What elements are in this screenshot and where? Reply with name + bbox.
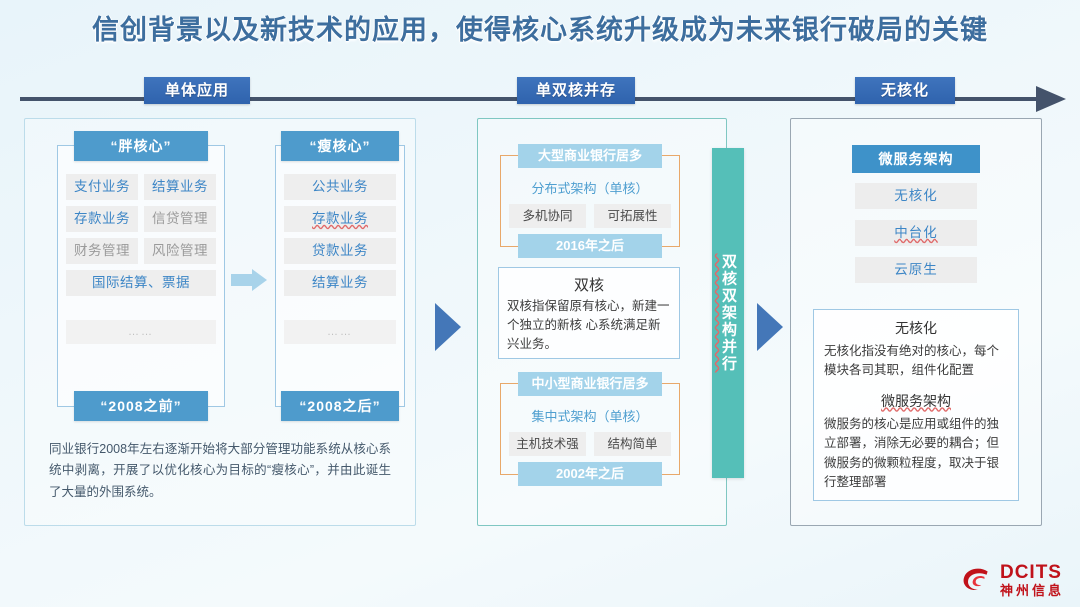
fat-core-cell: 结算业务 [144, 174, 216, 200]
panel-monolithic: “胖核心” 支付业务 结算业务 存款业务 信贷管理 财务管理 风险管理 国际结算… [24, 118, 416, 526]
fat-core-caption-top: “胖核心” [74, 131, 208, 161]
fat-core-row: …… [66, 320, 216, 344]
coreless-heading-2: 微服务架构 [824, 391, 1008, 411]
dcits-swoosh-icon [960, 563, 994, 597]
dual-core-body: 双核指保留原有核心，新建一个独立的新核 心系统满足新兴业务。 [507, 297, 671, 353]
fat-core-cell: 信贷管理 [144, 206, 216, 232]
fat-core-items: 支付业务 结算业务 存款业务 信贷管理 财务管理 风险管理 国际结算、票据 [66, 174, 216, 350]
timeline-stage-3[interactable]: 无核化 [855, 77, 955, 104]
thin-core-cell: 贷款业务 [284, 238, 396, 264]
small-bank-year: 2002年之后 [518, 462, 662, 486]
panel-monolithic-note: 同业银行2008年左右逐渐开始将大部分管理功能系统从核心系统中剥离，开展了以优化… [41, 433, 399, 510]
spacer [66, 302, 216, 314]
coreless-body-1: 无核化指没有绝对的核心，每个模块各司其职，组件化配置 [824, 342, 1008, 381]
thin-core-cell: 结算业务 [284, 270, 396, 296]
panel-dual-core: 大型商业银行居多 分布式架构（单核） 多机协同 可拓展性 2016年之后 双核 … [477, 118, 727, 526]
fat-core-cell: 财务管理 [66, 238, 138, 264]
tag: 结构简单 [594, 432, 671, 456]
coreless-feature-list: 无核化 中台化 云原生 [855, 183, 977, 294]
thin-core-column: “瘦核心” 公共业务 存款业务 贷款业务 结算业务 …… “2008之后” [275, 145, 405, 407]
fat-core-row: 支付业务 结算业务 [66, 174, 216, 200]
fat-core-cell: 支付业务 [66, 174, 138, 200]
thin-core-cell: 公共业务 [284, 174, 396, 200]
timeline-stage-1[interactable]: 单体应用 [144, 77, 250, 104]
dual-architecture-bar-label: 双核双架构并行 [712, 254, 744, 373]
thin-core-ellipsis: …… [284, 320, 396, 344]
spacer [284, 302, 396, 314]
brand-logo-text: DCITS 神州信息 [1000, 563, 1064, 597]
dual-core-heading: 双核 [507, 274, 671, 295]
coreless-feature: 云原生 [855, 257, 977, 283]
page-title: 信创背景以及新技术的应用，使得核心系统升级成为未来银行破局的关键 [0, 8, 1080, 47]
thin-core-caption-bottom: “2008之后” [281, 391, 399, 421]
fat-core-row: 财务管理 风险管理 [66, 238, 216, 264]
fat-core-ellipsis: …… [66, 320, 216, 344]
fat-core-cell: 风险管理 [144, 238, 216, 264]
thin-core-items: 公共业务 存款业务 贷款业务 结算业务 …… [284, 174, 396, 350]
coreless-body-2: 微服务的核心是应用或组件的独立部署，消除无必要的耦合；但微服务的微颗粒程度，取决… [824, 415, 1008, 493]
tag: 可拓展性 [594, 204, 671, 228]
coreless-feature: 无核化 [855, 183, 977, 209]
stage-arrow-icon-1 [435, 303, 461, 351]
panel-coreless: 微服务架构 无核化 中台化 云原生 无核化 无核化指没有绝对的核心，每个模块各司… [790, 118, 1042, 526]
fat-core-caption-bottom: “2008之前” [74, 391, 208, 421]
brand-logo: DCITS 神州信息 [960, 563, 1064, 597]
slide-root: 信创背景以及新技术的应用，使得核心系统升级成为未来银行破局的关键 单体应用 单双… [0, 0, 1080, 607]
thin-core-cell: 存款业务 [284, 206, 396, 232]
fat-core-row-spacer [66, 302, 216, 314]
timeline: 单体应用 单双核并存 无核化 [20, 86, 1066, 112]
fat-core-row: 国际结算、票据 [66, 270, 216, 296]
small-bank-tags: 主机技术强 结构简单 [509, 432, 671, 456]
large-bank-subtitle: 分布式架构（单核） [501, 178, 679, 197]
brand-name-en: DCITS [1000, 563, 1064, 582]
thin-core-caption-top: “瘦核心” [281, 131, 399, 161]
small-bank-group: 中小型商业银行居多 集中式架构（单核） 主机技术强 结构简单 2002年之后 [500, 383, 680, 475]
large-bank-year: 2016年之后 [518, 234, 662, 258]
stage-arrow-icon-2 [757, 303, 783, 351]
coreless-feature: 中台化 [855, 220, 977, 246]
coreless-heading-1: 无核化 [824, 318, 1008, 338]
dual-architecture-bar: 双核双架构并行 [712, 148, 744, 478]
tag: 主机技术强 [509, 432, 586, 456]
tag: 多机协同 [509, 204, 586, 228]
fat-core-cell: 存款业务 [66, 206, 138, 232]
fat-core-column: “胖核心” 支付业务 结算业务 存款业务 信贷管理 财务管理 风险管理 国际结算… [57, 145, 225, 407]
large-bank-group: 大型商业银行居多 分布式架构（单核） 多机协同 可拓展性 2016年之后 [500, 155, 680, 247]
fat-core-cell-wide: 国际结算、票据 [66, 270, 216, 296]
timeline-stage-2[interactable]: 单双核并存 [517, 77, 635, 104]
brand-name-cn: 神州信息 [1000, 584, 1064, 597]
right-arrow-icon [231, 269, 267, 291]
small-bank-caption: 中小型商业银行居多 [518, 372, 662, 396]
dual-core-definition-box: 双核 双核指保留原有核心，新建一个独立的新核 心系统满足新兴业务。 [498, 267, 680, 359]
timeline-arrow-icon [1036, 86, 1066, 112]
small-bank-subtitle: 集中式架构（单核） [501, 406, 679, 425]
fat-core-row: 存款业务 信贷管理 [66, 206, 216, 232]
large-bank-caption: 大型商业银行居多 [518, 144, 662, 168]
coreless-definition-box: 无核化 无核化指没有绝对的核心，每个模块各司其职，组件化配置 微服务架构 微服务… [813, 309, 1019, 501]
large-bank-tags: 多机协同 可拓展性 [509, 204, 671, 228]
microservice-header: 微服务架构 [852, 145, 980, 173]
